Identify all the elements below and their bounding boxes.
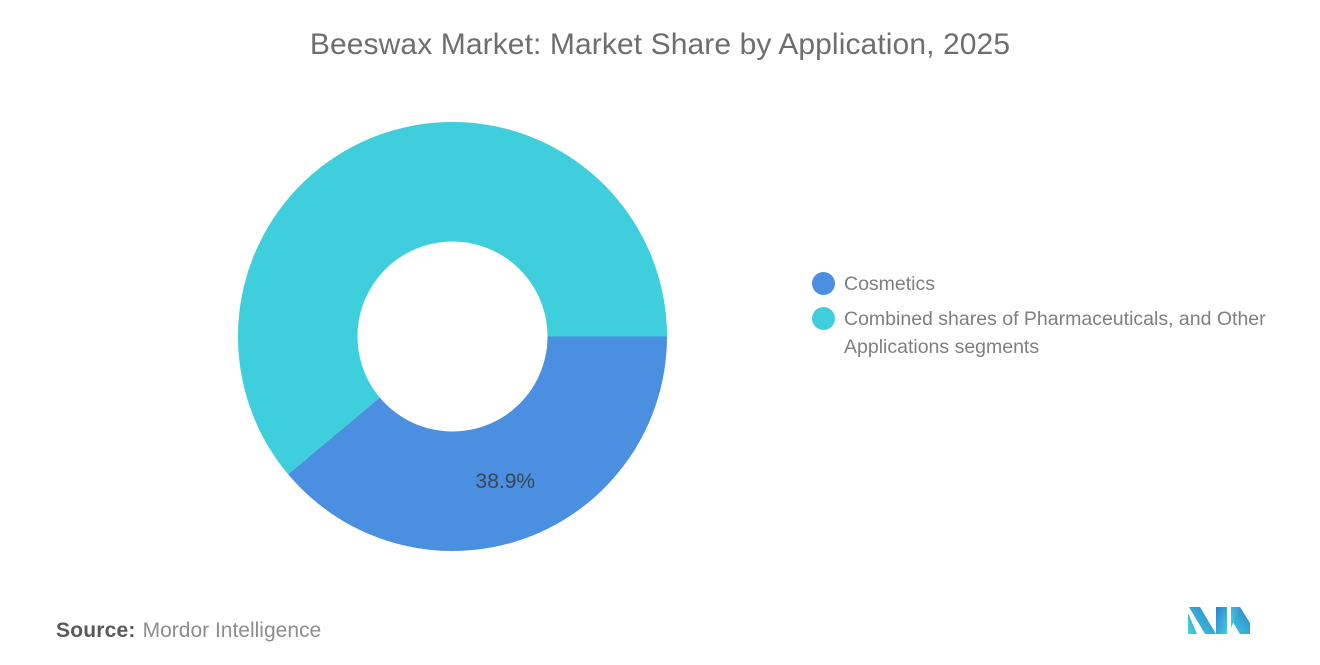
donut-svg <box>238 122 667 551</box>
mordor-intelligence-logo-icon <box>1186 601 1252 635</box>
legend-color-swatch-icon <box>812 272 835 295</box>
source-line: Source:Mordor Intelligence <box>56 617 321 645</box>
legend-item-label: Cosmetics <box>844 270 935 298</box>
source-label: Source: <box>56 619 136 642</box>
chart-title: Beeswax Market: Market Share by Applicat… <box>0 28 1320 62</box>
legend-item-combined-other[interactable]: Combined shares of Pharmaceuticals, and … <box>812 305 1282 361</box>
donut-chart-figure: Beeswax Market: Market Share by Applicat… <box>0 0 1320 665</box>
donut-chart: 38.9% <box>238 122 667 551</box>
chart-legend: Cosmetics Combined shares of Pharmaceuti… <box>812 270 1282 368</box>
legend-color-swatch-icon <box>812 307 835 330</box>
legend-item-cosmetics[interactable]: Cosmetics <box>812 270 1282 298</box>
donut-hole <box>358 242 548 432</box>
legend-item-label: Combined shares of Pharmaceuticals, and … <box>844 305 1269 361</box>
source-value: Mordor Intelligence <box>143 619 322 642</box>
